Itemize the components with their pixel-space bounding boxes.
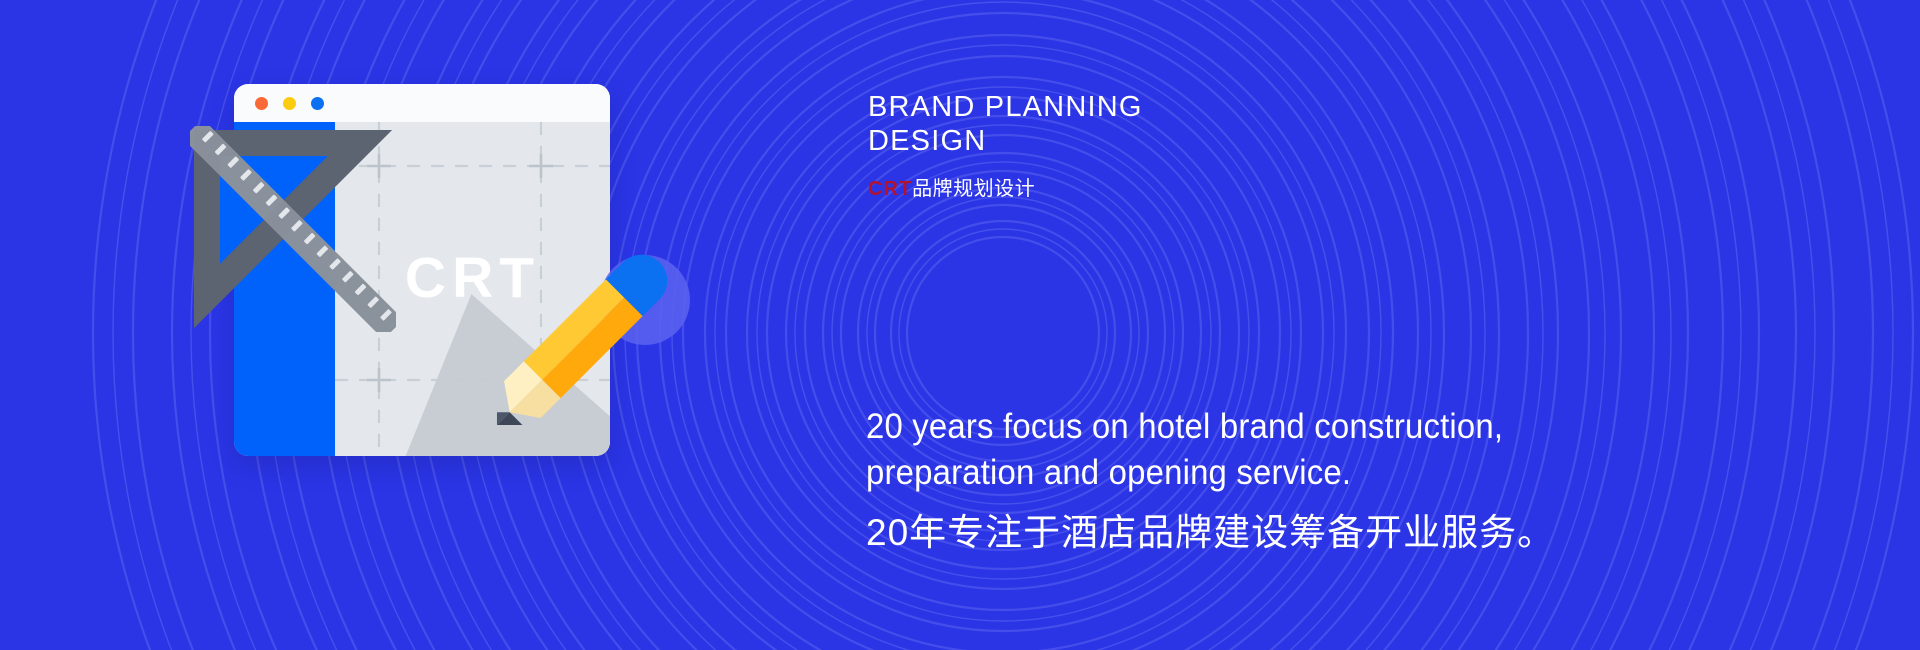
tagline-block: 20 years focus on hotel brand constructi… [866, 404, 1706, 556]
set-square-ruler-icon [190, 126, 396, 332]
subtitle-block: CRT品牌规划设计 [868, 177, 1035, 201]
brand-banner: CRT [0, 0, 1920, 650]
window-titlebar [234, 84, 610, 122]
close-dot-icon [255, 97, 268, 110]
subtitle-brand: CRT [868, 178, 912, 200]
tagline-english-line-2: preparation and opening service. [866, 450, 1656, 496]
tagline-english-line-1: 20 years focus on hotel brand constructi… [866, 404, 1656, 450]
maximize-dot-icon [311, 97, 324, 110]
pencil-icon [464, 228, 694, 458]
headline-line-1: BRAND PLANNING [868, 90, 1488, 124]
headline-block: BRAND PLANNING DESIGN [868, 90, 1488, 158]
minimize-dot-icon [283, 97, 296, 110]
headline-line-2: DESIGN [868, 124, 1488, 158]
subtitle-text: 品牌规划设计 [912, 178, 1035, 200]
tagline-chinese: 20年专注于酒店品牌建设筹备开业服务。 [866, 510, 1706, 556]
hero-illustration: CRT [228, 78, 848, 578]
